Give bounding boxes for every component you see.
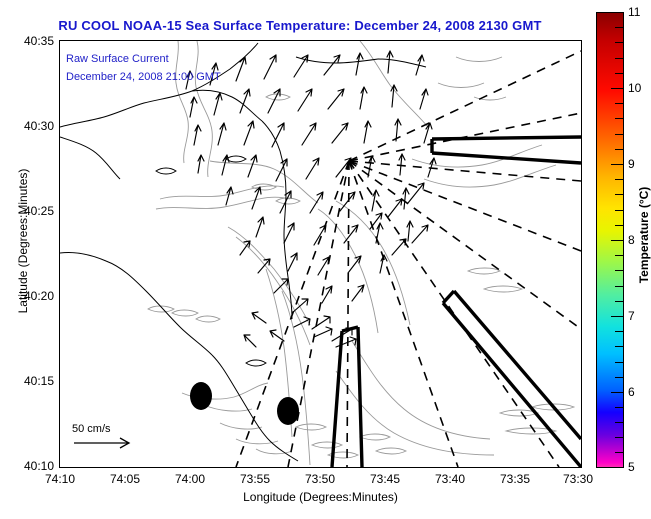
colorbar-tick-0: 11	[628, 5, 640, 19]
vector-column-b	[210, 63, 233, 205]
ytick-0: 40:35	[24, 34, 54, 48]
xtick-8: 73:30	[563, 472, 593, 486]
ytick-5: 40:10	[24, 459, 54, 473]
radar-site-marker-east	[277, 397, 299, 425]
page-title: RU COOL NOAA-15 Sea Surface Temperature:…	[0, 18, 600, 33]
xtick-7: 73:35	[500, 472, 530, 486]
right-arrow-icon	[66, 436, 152, 450]
colorbar-tick-6: 5	[628, 460, 635, 474]
vector-column-c	[236, 57, 264, 237]
sst-current-map-figure: RU COOL NOAA-15 Sea Surface Temperature:…	[0, 0, 651, 519]
colorbar-tick-4: 7	[628, 309, 635, 323]
longitude-tick-labels: 74:10 74:05 74:00 73:55 73:50 73:45 73:4…	[59, 472, 582, 488]
radar-site-marker-west	[190, 382, 212, 410]
x-axis-title: Longitude (Degrees:Minutes)	[59, 490, 582, 504]
colorbar-tick-2: 9	[628, 157, 635, 171]
colorbar-tick-5: 6	[628, 385, 635, 399]
colorbar-tick-3: 8	[628, 233, 635, 247]
map-plot-area: Raw Surface Current December 24, 2008 21…	[59, 40, 582, 468]
vector-column-e	[294, 55, 332, 303]
raw-surface-current-timestamp: December 24, 2008 21:00 GMT	[66, 71, 221, 83]
xtick-4: 73:50	[305, 472, 335, 486]
vector-column-f	[324, 55, 364, 301]
vector-column-k	[244, 312, 356, 347]
xtick-0: 74:10	[45, 472, 75, 486]
xtick-1: 74:05	[110, 472, 140, 486]
colorbar-title: Temperature (°C)	[637, 125, 651, 345]
xtick-3: 73:55	[240, 472, 270, 486]
vector-scale-label: 50 cm/s	[66, 423, 152, 435]
vector-scale-legend: 50 cm/s	[66, 423, 152, 455]
colorbar-tick-1: 10	[628, 81, 641, 95]
ytick-4: 40:15	[24, 374, 54, 388]
vector-column-d	[264, 55, 297, 271]
map-overlay-graphics	[60, 41, 581, 467]
xtick-2: 74:00	[175, 472, 205, 486]
vector-column-i	[416, 55, 436, 177]
colorbar-tick-marks: 11 10 9 8 7 6 5	[596, 12, 636, 468]
y-axis-title: Latitude (Degrees:Minutes)	[16, 126, 30, 356]
xtick-5: 73:45	[370, 472, 400, 486]
xtick-6: 73:40	[435, 472, 465, 486]
raw-surface-current-label: Raw Surface Current	[66, 53, 169, 65]
